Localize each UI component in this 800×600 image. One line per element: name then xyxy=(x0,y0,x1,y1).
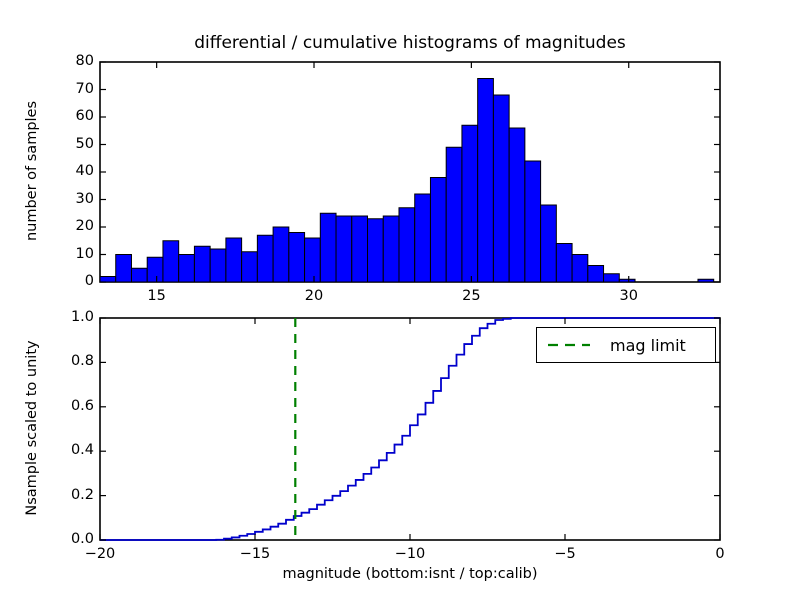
bottom-panel-axes xyxy=(0,0,800,600)
legend-entry-mag-limit: mag limit xyxy=(537,328,715,362)
legend-label: mag limit xyxy=(610,336,686,355)
dashed-line-icon xyxy=(546,337,592,353)
legend: mag limit xyxy=(536,327,716,363)
matplotlib-figure: differential / cumulative histograms of … xyxy=(0,0,800,600)
